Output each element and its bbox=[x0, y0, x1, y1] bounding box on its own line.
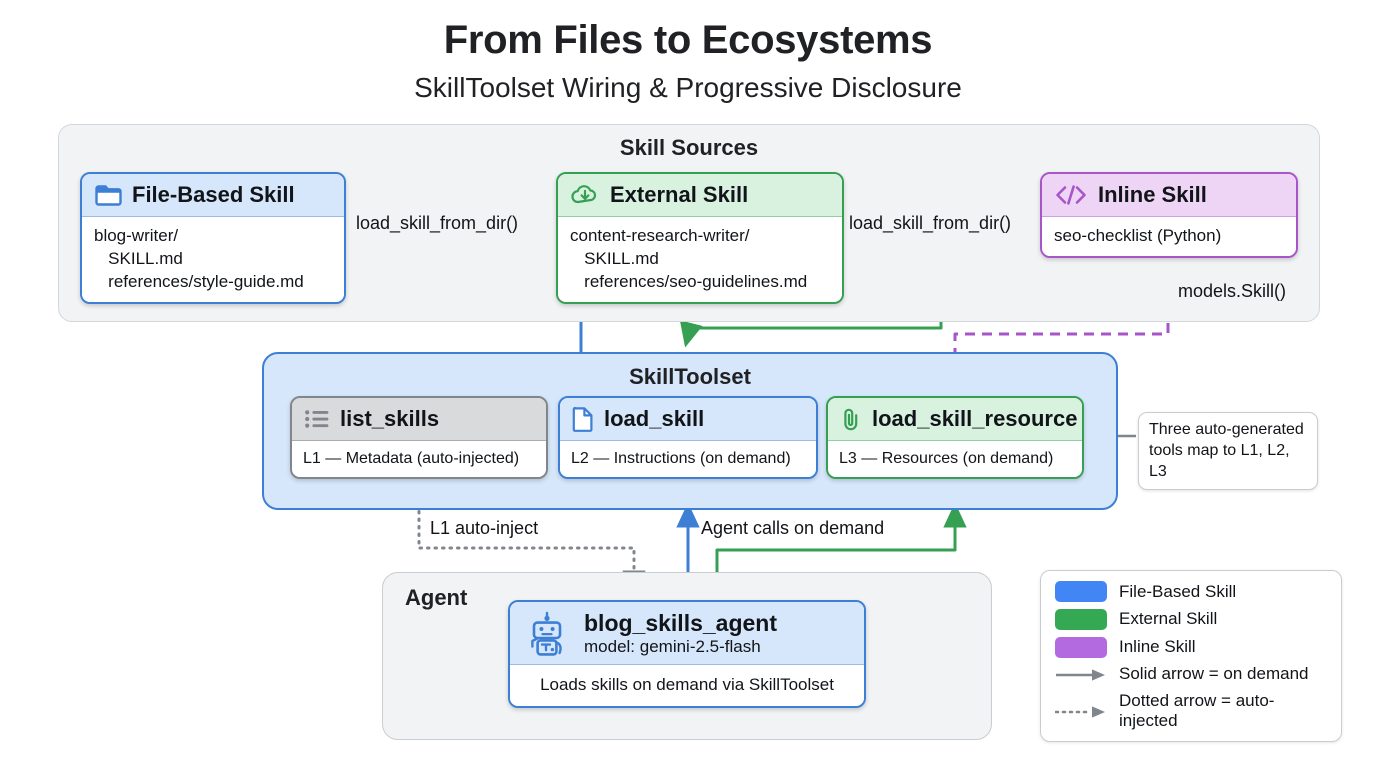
node-inline-skill[interactable]: Inline Skill seo-checklist (Python) bbox=[1040, 172, 1298, 258]
node-load-skill[interactable]: load_skill L2 — Instructions (on demand) bbox=[558, 396, 818, 479]
node-load-skill-resource[interactable]: load_skill_resource L3 — Resources (on d… bbox=[826, 396, 1084, 479]
legend-label-inline-skill: Inline Skill bbox=[1119, 637, 1196, 657]
node-blog-skills-agent-header: blog_skills_agent model: gemini-2.5-flas… bbox=[510, 602, 864, 665]
folder-icon bbox=[94, 183, 122, 207]
group-agent-title: Agent bbox=[405, 585, 467, 611]
node-load-skill-resource-header: load_skill_resource bbox=[828, 398, 1082, 441]
node-blog-skills-agent-body: Loads skills on demand via SkillToolset bbox=[510, 665, 864, 706]
node-load-skill-body: L2 — Instructions (on demand) bbox=[560, 441, 816, 477]
legend-item-dotted-arrow: Dotted arrow = auto-injected bbox=[1055, 691, 1327, 731]
node-inline-skill-header: Inline Skill bbox=[1042, 174, 1296, 217]
callout-three-tools: Three auto-generated tools map to L1, L2… bbox=[1138, 412, 1318, 490]
solid-arrow-icon bbox=[1055, 667, 1107, 681]
node-blog-skills-agent[interactable]: blog_skills_agent model: gemini-2.5-flas… bbox=[508, 600, 866, 708]
node-file-based-skill-body: blog-writer/ SKILL.md references/style-g… bbox=[82, 217, 344, 302]
node-inline-skill-body: seo-checklist (Python) bbox=[1042, 217, 1296, 256]
node-load-skill-title: load_skill bbox=[604, 406, 704, 432]
edge-label-l1-auto-inject: L1 auto-inject bbox=[430, 518, 538, 539]
group-skill-sources-title: Skill Sources bbox=[59, 135, 1319, 161]
node-list-skills-body: L1 — Metadata (auto-injected) bbox=[292, 441, 546, 477]
node-list-skills[interactable]: list_skills L1 — Metadata (auto-injected… bbox=[290, 396, 548, 479]
node-external-skill-header: External Skill bbox=[558, 174, 842, 217]
node-load-skill-resource-body: L3 — Resources (on demand) bbox=[828, 441, 1082, 477]
paperclip-icon bbox=[840, 406, 862, 432]
edge-label-file-to-external: load_skill_from_dir() bbox=[356, 213, 518, 234]
robot-icon bbox=[524, 610, 570, 658]
code-brackets-icon bbox=[1054, 184, 1088, 206]
legend-label-file-based-skill: File-Based Skill bbox=[1119, 582, 1236, 602]
callout-line-1: Three auto-generated bbox=[1149, 420, 1307, 441]
callout-line-2: tools map to L1, L2, L3 bbox=[1149, 441, 1307, 483]
node-external-skill-title: External Skill bbox=[610, 182, 748, 208]
node-blog-skills-agent-title: blog_skills_agent bbox=[584, 611, 777, 636]
edge-label-external-to-toolset: load_skill_from_dir() bbox=[849, 213, 1011, 234]
bulleted-list-icon bbox=[304, 408, 330, 430]
node-load-skill-header: load_skill bbox=[560, 398, 816, 441]
node-load-skill-resource-title: load_skill_resource bbox=[872, 406, 1077, 432]
legend-item-solid-arrow: Solid arrow = on demand bbox=[1055, 664, 1327, 684]
node-external-skill-body: content-research-writer/ SKILL.md refere… bbox=[558, 217, 842, 302]
node-external-skill[interactable]: External Skill content-research-writer/ … bbox=[556, 172, 844, 304]
node-list-skills-header: list_skills bbox=[292, 398, 546, 441]
legend: File-Based Skill External Skill Inline S… bbox=[1040, 570, 1342, 742]
edge-label-inline-to-resource: models.Skill() bbox=[1178, 281, 1286, 302]
legend-item-inline-skill: Inline Skill bbox=[1055, 637, 1327, 658]
group-skilltoolset-title: SkillToolset bbox=[264, 364, 1116, 390]
node-list-skills-title: list_skills bbox=[340, 406, 439, 432]
cloud-download-icon bbox=[570, 183, 600, 207]
node-file-based-skill[interactable]: File-Based Skill blog-writer/ SKILL.md r… bbox=[80, 172, 346, 304]
legend-label-dotted-arrow: Dotted arrow = auto-injected bbox=[1119, 691, 1327, 731]
diagram-canvas: From Files to Ecosystems SkillToolset Wi… bbox=[0, 0, 1376, 768]
node-file-based-skill-header: File-Based Skill bbox=[82, 174, 344, 217]
document-icon bbox=[572, 406, 594, 432]
legend-label-external-skill: External Skill bbox=[1119, 609, 1217, 629]
legend-item-external-skill: External Skill bbox=[1055, 609, 1327, 630]
dotted-arrow-icon bbox=[1055, 704, 1107, 718]
node-inline-skill-title: Inline Skill bbox=[1098, 182, 1207, 208]
legend-swatch-inline-skill bbox=[1055, 637, 1107, 658]
edge-label-agent-calls: Agent calls on demand bbox=[701, 518, 884, 539]
legend-swatch-file-based-skill bbox=[1055, 581, 1107, 602]
node-blog-skills-agent-model: model: gemini-2.5-flash bbox=[584, 637, 777, 657]
page-title: From Files to Ecosystems bbox=[0, 18, 1376, 63]
legend-item-file-based-skill: File-Based Skill bbox=[1055, 581, 1327, 602]
node-file-based-skill-title: File-Based Skill bbox=[132, 182, 295, 208]
legend-swatch-external-skill bbox=[1055, 609, 1107, 630]
page-subtitle: SkillToolset Wiring & Progressive Disclo… bbox=[0, 72, 1376, 104]
legend-label-solid-arrow: Solid arrow = on demand bbox=[1119, 664, 1308, 684]
